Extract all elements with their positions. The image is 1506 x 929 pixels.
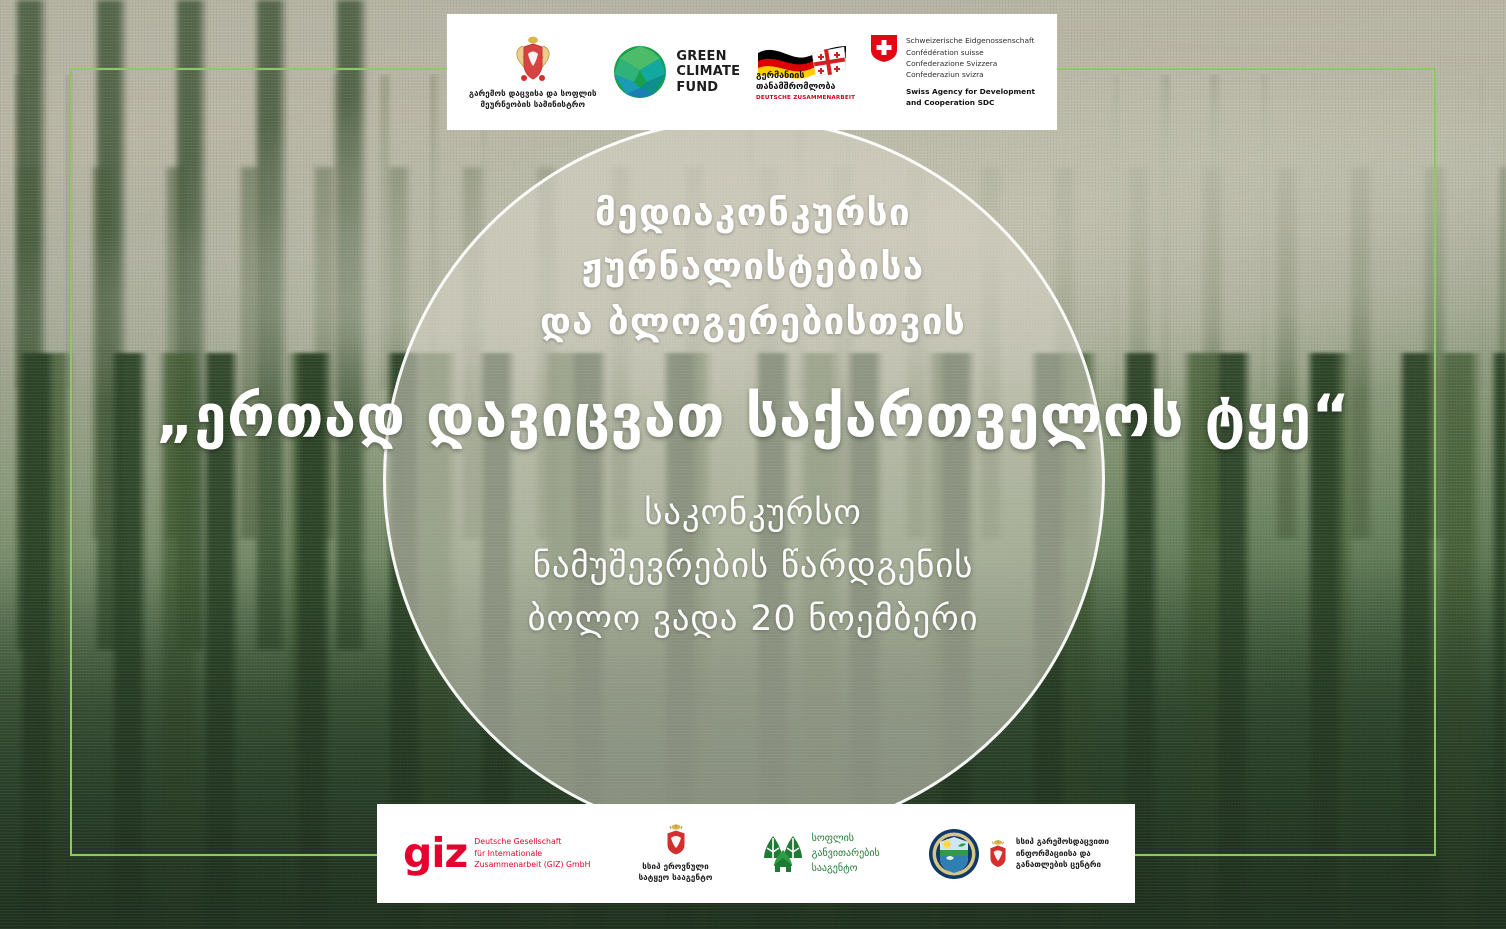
georgia-coat-of-arms-icon: [514, 34, 552, 84]
ministry-caption: გარემოს დაცვისა და სოფლის მეურნეობის სამ…: [469, 89, 597, 111]
logo-environmental-education-centre: სსიპ გარემოსდაცვითი ინფორმაციისა და განა…: [928, 828, 1109, 880]
bottom-logo-band: giz Deutsche Gesellschaft für Internatio…: [377, 804, 1135, 903]
top-logo-band: გარემოს დაცვისა და სოფლის მეურნეობის სამ…: [447, 14, 1057, 130]
giz-caption: Deutsche Gesellschaft für Internationale…: [474, 836, 590, 871]
swiss-cross-icon: [871, 35, 897, 62]
georgia-coat-of-arms-icon: [987, 839, 1009, 869]
green-climate-fund-caption: GREEN CLIMATE FUND: [676, 49, 740, 95]
rural-development-trees-icon: [761, 834, 805, 874]
environmental-centre-caption: სსიპ გარემოსდაცვითი ინფორმაციისა და განა…: [1016, 836, 1109, 870]
german-cooperation-subcaption: DEUTSCHE ZUSAMMENARBEIT: [756, 95, 855, 101]
rural-development-caption: სოფლის განვითარების სააგენტო: [812, 831, 880, 876]
logo-german-cooperation: გერმანიის თანამშრომლობა DEUTSCHE ZUSAMME…: [756, 43, 855, 102]
logo-national-forestry-agency: სსიპ ეროვნული სატყეო სააგენტო: [639, 823, 713, 884]
green-climate-fund-globe-icon: [612, 44, 668, 100]
poster-root: მედიაკონკურსი ჟურნალისტებისა და ბლოგერებ…: [0, 0, 1506, 929]
logo-green-climate-fund: GREEN CLIMATE FUND: [612, 44, 740, 100]
logo-swiss-sdc: Schweizerische Eidgenossenschaft Confédé…: [871, 35, 1035, 108]
swiss-agency-caption: Swiss Agency for Development and Coopera…: [906, 87, 1035, 108]
decorative-circle-overlay: [383, 118, 1105, 840]
environmental-education-seal-icon: [928, 828, 980, 880]
giz-wordmark-icon: giz: [403, 836, 467, 871]
logo-ministry-of-environment: გარემოს დაცვისა და სოფლის მეურნეობის სამ…: [469, 34, 597, 111]
german-cooperation-caption: გერმანიის თანამშრომლობა: [756, 71, 836, 94]
forestry-agency-caption: სსიპ ეროვნული სატყეო სააგენტო: [639, 862, 713, 884]
logo-rural-development-agency: სოფლის განვითარების სააგენტო: [761, 831, 880, 876]
swiss-languages: Schweizerische Eidgenossenschaft Confédé…: [906, 35, 1035, 80]
logo-giz: giz Deutsche Gesellschaft für Internatio…: [403, 836, 590, 871]
georgia-coat-of-arms-icon: [664, 823, 688, 857]
